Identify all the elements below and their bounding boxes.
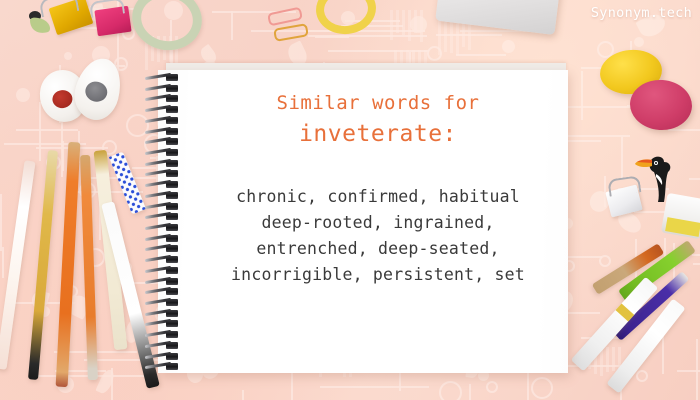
circuit-chip-pin (438, 21, 441, 55)
circuit-trace (581, 71, 583, 120)
circuit-trace (693, 263, 700, 265)
circuit-chip-pin (402, 10, 405, 35)
circuit-pad (599, 255, 611, 267)
circuit-chip-pin (462, 21, 465, 47)
circuit-pad (531, 377, 553, 399)
heading-line-1: Similar words for (202, 88, 554, 118)
binder-clip-pink-icon (94, 6, 131, 36)
spiral-coil (145, 310, 187, 317)
spiral-coil (145, 85, 187, 92)
circuit-chip-pin (612, 347, 615, 371)
circuit-trace (62, 141, 64, 171)
spiral-coil (145, 128, 187, 135)
circuit-trace (527, 369, 529, 400)
spiral-coil (145, 320, 187, 327)
spiral-coil (145, 342, 187, 349)
spiral-coil (145, 74, 187, 81)
screenshot-root: Similar words for inveterate: chronic, c… (0, 0, 700, 400)
circuit-pad (16, 88, 30, 102)
circuit-trace (39, 102, 41, 161)
circuit-pad (636, 370, 648, 382)
circuit-chip-pin (408, 10, 411, 41)
spiral-coil (145, 288, 187, 295)
circuit-chip-pin (606, 347, 609, 372)
spiral-coil (145, 117, 187, 124)
circuit-chip-pin (390, 10, 393, 40)
spiral-coil (145, 278, 187, 285)
spiral-coil (145, 245, 187, 252)
spiral-coil (145, 160, 187, 167)
circuit-trace (692, 254, 700, 256)
circuit-pad (64, 52, 72, 60)
spiral-coil (145, 192, 187, 199)
spiral-coil (145, 363, 187, 370)
notebook-page: Similar words for inveterate: chronic, c… (158, 70, 568, 373)
spiral-binding (145, 72, 191, 372)
circuit-trace (469, 384, 471, 400)
synonym-line: deep-rooted, ingrained, (202, 210, 554, 236)
spiral-coil (145, 213, 187, 220)
spiral-coil (145, 138, 187, 145)
circuit-trace (2, 247, 4, 278)
circuit-trace (689, 178, 700, 180)
circuit-pad (502, 40, 515, 53)
marker-jar-icon (661, 193, 700, 239)
circuit-chip-pin (450, 21, 453, 53)
spiral-coil (145, 149, 187, 156)
circuit-chip-pin (468, 21, 471, 50)
circuit-chip-pin (456, 21, 459, 55)
circuit-trace (0, 194, 2, 251)
spiral-coil (145, 106, 187, 113)
spiral-coil (145, 256, 187, 263)
spiral-coil (145, 353, 187, 360)
circuit-trace (696, 339, 698, 400)
circuit-chip-pin (396, 10, 399, 33)
spiral-coil (145, 170, 187, 177)
site-logo[interactable]: Synonym.tech (591, 5, 692, 21)
spiral-coil (145, 235, 187, 242)
synonym-line: entrenched, deep-seated, (202, 236, 554, 262)
circuit-trace (668, 129, 700, 131)
spiral-coil (145, 95, 187, 102)
synonym-list: chronic, confirmed, habitualdeep-rooted,… (202, 184, 554, 288)
circuit-pad (486, 381, 498, 393)
heading-word: inveterate: (202, 118, 554, 150)
circuit-trace (621, 137, 623, 179)
circuit-pad (439, 381, 462, 400)
circuit-pad (410, 16, 427, 33)
synonym-line: chronic, confirmed, habitual (202, 184, 554, 210)
circuit-chip-pin (444, 21, 447, 52)
circuit-chip-pin (420, 10, 423, 42)
spiral-coil (145, 267, 187, 274)
circuit-trace (456, 54, 506, 56)
circuit-trace (320, 386, 429, 388)
bird-sticker-icon (26, 10, 56, 36)
spiral-coil (145, 331, 187, 338)
circuit-trace (242, 390, 244, 400)
notebook-content: Similar words for inveterate: chronic, c… (202, 88, 554, 288)
circuit-trace (231, 11, 233, 40)
spiral-coil (145, 181, 187, 188)
spiral-coil (145, 203, 187, 210)
circuit-chip-pin (414, 10, 417, 33)
circuit-trace (16, 129, 78, 131)
synonym-line: incorrigible, persistent, set (202, 262, 554, 288)
spiral-coil (145, 299, 187, 306)
circuit-pad (634, 37, 644, 47)
spiral-coil (145, 224, 187, 231)
